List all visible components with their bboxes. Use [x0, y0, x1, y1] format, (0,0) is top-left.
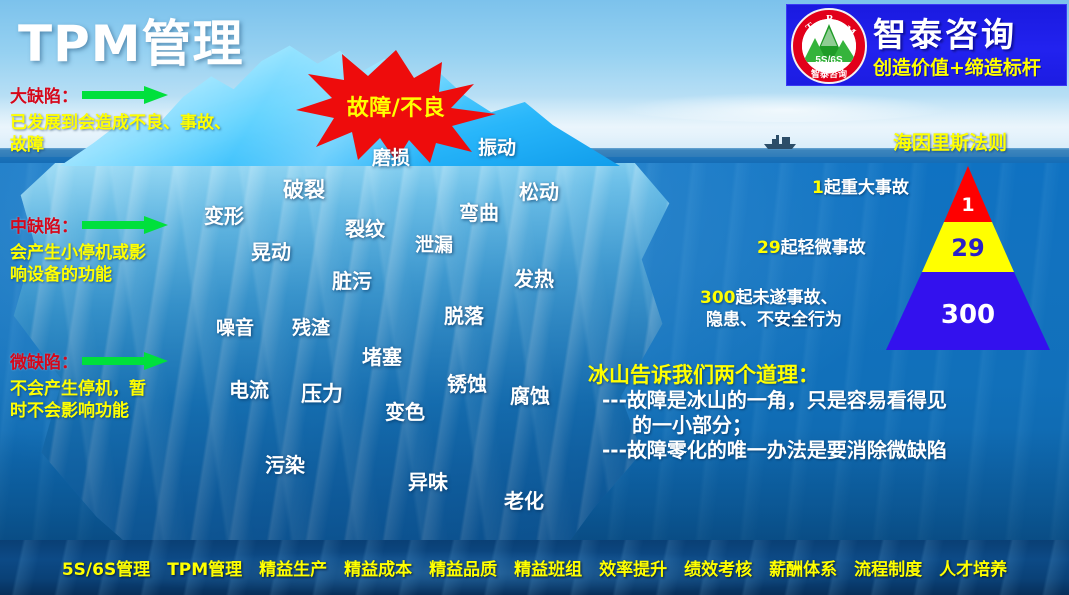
defect-body-major-line2: 故障 — [10, 134, 231, 156]
bottom-bar-item[interactable]: 精益班组 — [514, 555, 582, 580]
bottom-bar-item[interactable]: 效率提升 — [599, 555, 667, 580]
conclusion-heading: 冰山告诉我们两个道理： — [588, 362, 1066, 388]
conclusion-line-2: 的一小部分； — [588, 413, 1066, 438]
defect-block-minor: 微缺陷： 不会产生停机，暂 时不会影响功能 — [10, 348, 168, 422]
iceberg-label: 发热 — [514, 263, 554, 292]
defect-body-medium-line2: 响设备的功能 — [10, 264, 168, 286]
logo-badge-bottom-text: 智泰咨询 — [811, 68, 847, 80]
iceberg-label: 压力 — [301, 378, 343, 408]
conclusion-block: 冰山告诉我们两个道理： ---故障是冰山的一角，只是容易看得见 的一小部分； -… — [588, 362, 1066, 464]
conclusion-line-3: ---故障零化的唯一办法是要消除微缺陷 — [588, 438, 1066, 463]
heinrich-row-nearmiss: 300起未遂事故、 隐患、不安全行为 — [700, 288, 842, 332]
green-right-arrow-icon — [82, 216, 168, 234]
iceberg-label: 污染 — [265, 449, 305, 478]
pyramid-value-base: 300 — [884, 300, 1052, 330]
page-title: TPM管理 — [18, 4, 244, 76]
logo-badge: 5S/6S T P M 智泰咨询 — [791, 8, 867, 84]
bottom-bar-item[interactable]: 人才培养 — [939, 555, 1007, 580]
iceberg-label: 变形 — [204, 200, 244, 229]
iceberg-label: 裂纹 — [345, 213, 385, 242]
company-logo[interactable]: 5S/6S T P M 智泰咨询 智泰咨询 创造价值+缔造标杆 — [786, 4, 1067, 86]
heinrich-title: 海因里斯法则 — [893, 128, 1007, 155]
pyramid-value-top: 1 — [884, 194, 1052, 216]
conclusion-line-1: ---故障是冰山的一角，只是容易看得见 — [588, 388, 1066, 413]
bottom-bar-item[interactable]: 流程制度 — [854, 555, 922, 580]
heinrich-pyramid: 1 29 300 — [884, 164, 1052, 352]
iceberg-label: 振动 — [478, 133, 516, 160]
bottom-bar-item[interactable]: 绩效考核 — [684, 555, 752, 580]
heinrich-text-nearmiss: 起未遂事故、 — [736, 288, 838, 308]
bottom-bar-item[interactable]: TPM管理 — [167, 555, 242, 580]
green-right-arrow-icon — [82, 352, 168, 370]
iceberg-label: 电流 — [229, 374, 269, 403]
bottom-bar-item[interactable]: 精益成本 — [344, 555, 412, 580]
iceberg-label: 脱落 — [444, 300, 484, 329]
iceberg-label: 噪音 — [216, 313, 254, 340]
defect-body-major-line1: 已发展到会造成不良、事故、 — [10, 112, 231, 134]
bottom-bar-item-list: 5S/6S管理TPM管理精益生产精益成本精益品质精益班组效率提升绩效考核薪酬体系… — [0, 540, 1069, 595]
heinrich-num-nearmiss: 300 — [700, 288, 736, 308]
iceberg-label: 泄漏 — [415, 230, 453, 257]
iceberg-label: 晃动 — [251, 236, 291, 265]
iceberg-label: 异味 — [408, 466, 448, 495]
defect-heading-minor: 微缺陷： — [10, 348, 78, 373]
iceberg-label: 弯曲 — [459, 197, 499, 226]
bottom-bar-item[interactable]: 5S/6S管理 — [62, 555, 150, 580]
iceberg-label: 残渣 — [292, 313, 330, 340]
bottom-bar-item[interactable]: 精益品质 — [429, 555, 497, 580]
defect-block-major: 大缺陷： 已发展到会造成不良、事故、 故障 — [10, 82, 231, 156]
defect-body-minor-line1: 不会产生停机，暂 — [10, 378, 168, 400]
iceberg-label: 松动 — [519, 176, 559, 205]
defect-heading-medium: 中缺陷： — [10, 212, 78, 237]
heinrich-num-major: 1 — [812, 178, 824, 198]
bottom-bar-item[interactable]: 薪酬体系 — [769, 555, 837, 580]
iceberg-label: 堵塞 — [362, 341, 402, 370]
iceberg-label: 磨损 — [372, 143, 410, 170]
iceberg-label: 破裂 — [283, 174, 325, 204]
logo-letter-p: P — [826, 13, 833, 25]
iceberg-label: 变色 — [385, 396, 425, 425]
logo-company-name: 智泰咨询 — [873, 8, 1017, 56]
iceberg-label: 腐蚀 — [510, 380, 550, 409]
heinrich-row-minor: 29起轻微事故 — [757, 238, 866, 260]
defect-heading-major: 大缺陷： — [10, 82, 78, 107]
heinrich-text-nearmiss-line2: 隐患、不安全行为 — [700, 310, 842, 332]
slide-canvas: TPM管理 大缺陷： 已发展到会造成不良、事故、 故障 中缺陷： 会产生小停机或… — [0, 0, 1069, 595]
iceberg-label: 老化 — [504, 485, 544, 514]
iceberg-label: 锈蚀 — [447, 368, 487, 397]
defect-block-medium: 中缺陷： 会产生小停机或影 响设备的功能 — [10, 212, 168, 286]
defect-body-medium-line1: 会产生小停机或影 — [10, 242, 168, 264]
heinrich-num-minor: 29 — [757, 238, 781, 258]
bottom-service-bar: 5S/6S管理TPM管理精益生产精益成本精益品质精益班组效率提升绩效考核薪酬体系… — [0, 540, 1069, 595]
logo-slogan: 创造价值+缔造标杆 — [873, 53, 1041, 80]
logo-badge-graphic: 5S/6S T P M 智泰咨询 — [793, 10, 865, 82]
iceberg-label: 脏污 — [332, 265, 372, 294]
green-right-arrow-icon — [82, 86, 168, 104]
logo-text-block: 智泰咨询 创造价值+缔造标杆 — [871, 5, 1067, 87]
boat-icon — [762, 132, 798, 150]
bottom-bar-item[interactable]: 精益生产 — [259, 555, 327, 580]
pyramid-value-mid: 29 — [884, 234, 1052, 262]
heinrich-text-minor: 起轻微事故 — [781, 238, 866, 258]
logo-badge-center-text: 5S/6S — [815, 55, 843, 66]
defect-body-minor-line2: 时不会影响功能 — [10, 400, 168, 422]
